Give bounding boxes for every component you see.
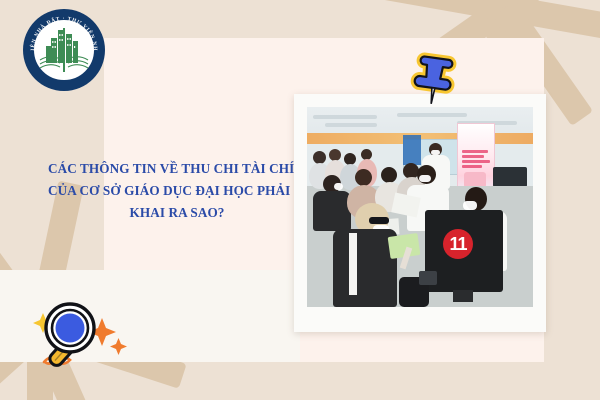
page-title: CÁC THÔNG TIN VỀ THU CHI TÀI CHÍNH CỦA C… [48, 158, 306, 224]
site-logo[interactable]: THƯ VIỆN NHÀ ĐẤT · THƯ VIỆN NHÀ ĐẤT www.… [22, 8, 106, 92]
photo-card: 11 [294, 94, 546, 332]
page-title-line-3: KHAI RA SAO? [48, 202, 306, 224]
magnifier-icon [32, 292, 136, 384]
poster-canvas: THƯ VIỆN NHÀ ĐẤT · THƯ VIỆN NHÀ ĐẤT www.… [0, 0, 600, 400]
pushpin-icon [406, 50, 462, 110]
page-title-line-2: CỦA CƠ SỞ GIÁO DỤC ĐẠI HỌC PHẢI CÔNG [48, 180, 306, 202]
page-title-line-1: CÁC THÔNG TIN VỀ THU CHI TÀI CHÍNH [48, 158, 306, 180]
counter-number-badge: 11 [443, 229, 473, 259]
photo-image: 11 [307, 107, 533, 307]
